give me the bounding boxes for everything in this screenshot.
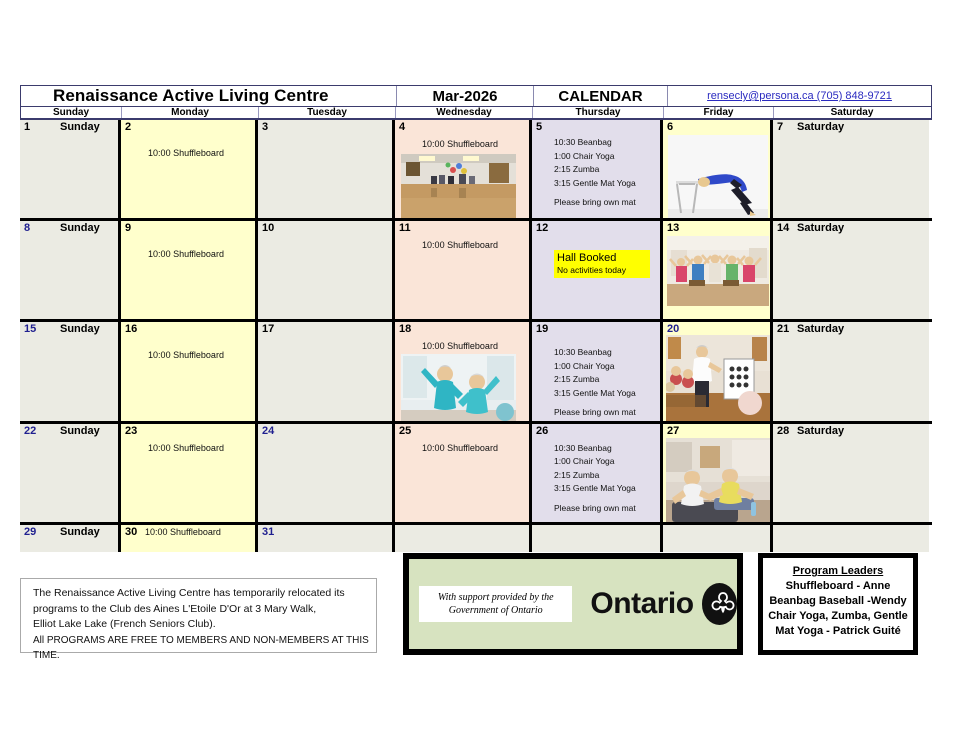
day-number: 2	[125, 121, 131, 134]
hall-booked-badge: Hall Booked No activities today	[554, 250, 650, 278]
day-weekday-label: Sunday	[60, 425, 100, 438]
day-weekday-label: Saturday	[797, 222, 844, 235]
day-cell[interactable]: 21 Saturday	[773, 322, 929, 420]
day-weekday-label: Sunday	[60, 323, 100, 336]
weekday-tuesday: Tuesday	[259, 107, 396, 118]
day-cell[interactable]: 5 10:30 Beanbag 1:00 Chair Yoga 2:15 Zum…	[532, 120, 663, 218]
month-label: Mar-2026	[397, 86, 534, 106]
day-cell[interactable]: 2 10:00 Shuffleboard	[121, 120, 258, 218]
day-cell[interactable]: 11 10:00 Shuffleboard	[395, 221, 532, 319]
day-number: 28	[777, 425, 789, 438]
event-item: 3:15 Gentle Mat Yoga	[554, 387, 636, 401]
day-cell[interactable]: 3	[258, 120, 395, 218]
day-weekday-label: Saturday	[797, 323, 844, 336]
day-cell[interactable]	[532, 525, 663, 552]
week-row: 22 Sunday 23 10:00 Shuffleboard 24 25 10…	[20, 424, 932, 525]
event-text: 10:00 Shuffleboard	[121, 349, 251, 361]
day-cell[interactable]: 30 10:00 Shuffleboard	[121, 525, 258, 552]
event-list: 10:30 Beanbag 1:00 Chair Yoga 2:15 Zumba…	[554, 442, 636, 516]
program-leader-item: Beanbag Baseball -Wendy	[763, 594, 913, 609]
chair-yoga-class-photo	[667, 236, 769, 306]
week-row: 15 Sunday 16 10:00 Shuffleboard 17 18 10…	[20, 322, 932, 423]
calendar-page: Renaissance Active Living Centre Mar-202…	[0, 0, 956, 741]
event-item: 10:30 Beanbag	[554, 136, 636, 150]
ontario-wordmark: Ontario	[590, 587, 693, 621]
ontario-trillium-logo	[702, 583, 737, 625]
day-number: 16	[125, 323, 137, 336]
calendar-title-bar: Renaissance Active Living Centre Mar-202…	[20, 85, 932, 106]
day-cell[interactable]: 23 10:00 Shuffleboard	[121, 424, 258, 522]
event-item: 3:15 Gentle Mat Yoga	[554, 177, 636, 191]
day-cell[interactable]: 15 Sunday	[20, 322, 121, 420]
shuffleboard-hall-photo	[401, 154, 516, 218]
event-item: 1:00 Chair Yoga	[554, 360, 636, 374]
day-number: 11	[399, 222, 411, 235]
week-row: 1 Sunday 2 10:00 Shuffleboard 3 4 10:00 …	[20, 120, 932, 221]
event-text: 10:00 Shuffleboard	[121, 248, 251, 260]
event-item: 10:30 Beanbag	[554, 346, 636, 360]
day-cell[interactable]: 8 Sunday	[20, 221, 121, 319]
day-cell[interactable]: 9 10:00 Shuffleboard	[121, 221, 258, 319]
day-number: 30	[125, 526, 137, 539]
weekday-thursday: Thursday	[533, 107, 664, 118]
support-line-1: With support provided by the	[438, 591, 554, 604]
event-text: 10:00 Shuffleboard	[395, 239, 525, 251]
day-weekday-label: Sunday	[60, 121, 100, 134]
day-cell[interactable]: 18 10:00 Shuffleboard	[395, 322, 532, 420]
day-cell[interactable]	[395, 525, 532, 552]
day-number: 24	[262, 425, 274, 438]
day-cell[interactable]: 25 10:00 Shuffleboard	[395, 424, 532, 522]
notice-line-1: The Renaissance Active Living Centre has…	[33, 586, 376, 602]
day-cell[interactable]	[773, 525, 929, 552]
relocation-notice: The Renaissance Active Living Centre has…	[20, 578, 377, 653]
day-number: 25	[399, 425, 411, 438]
event-note: Please bring own mat	[554, 196, 636, 210]
week-row: 29 Sunday 30 10:00 Shuffleboard 31	[20, 525, 932, 552]
event-note: Please bring own mat	[554, 502, 636, 516]
day-cell[interactable]: 26 10:30 Beanbag 1:00 Chair Yoga 2:15 Zu…	[532, 424, 663, 522]
day-cell[interactable]: 4 10:00 Shuffleboard	[395, 120, 532, 218]
day-number: 29	[24, 526, 36, 539]
event-list: 10:30 Beanbag 1:00 Chair Yoga 2:15 Zumba…	[554, 136, 636, 210]
event-item: 3:15 Gentle Mat Yoga	[554, 482, 636, 496]
day-number: 15	[24, 323, 36, 336]
event-item: 2:15 Zumba	[554, 163, 636, 177]
day-number: 12	[536, 222, 548, 235]
hall-booked-title: Hall Booked	[557, 251, 647, 265]
event-list: 10:30 Beanbag 1:00 Chair Yoga 2:15 Zumba…	[554, 346, 636, 420]
event-item: 2:15 Zumba	[554, 469, 636, 483]
calendar-label: CALENDAR	[534, 86, 668, 106]
day-weekday-label: Sunday	[60, 222, 100, 235]
day-cell[interactable]: 6	[663, 120, 773, 218]
day-cell[interactable]: 13	[663, 221, 773, 319]
event-item: 1:00 Chair Yoga	[554, 455, 636, 469]
event-item: 10:30 Beanbag	[554, 442, 636, 456]
program-leaders-panel: Program Leaders Shuffleboard - Anne Bean…	[758, 553, 918, 655]
day-cell[interactable]: 19 10:30 Beanbag 1:00 Chair Yoga 2:15 Zu…	[532, 322, 663, 420]
week-row: 8 Sunday 9 10:00 Shuffleboard 10 11 10:0…	[20, 221, 932, 322]
day-cell[interactable]: 17	[258, 322, 395, 420]
day-cell[interactable]: 28 Saturday	[773, 424, 929, 522]
day-number: 7	[777, 121, 783, 134]
contact-link[interactable]: rensecly@persona.ca (705) 848-9721	[668, 86, 931, 106]
day-weekday-label: Saturday	[797, 425, 844, 438]
event-text: 10:00 Shuffleboard	[145, 526, 221, 539]
day-weekday-label: Sunday	[60, 526, 100, 539]
day-number: 22	[24, 425, 36, 438]
event-item: 2:15 Zumba	[554, 373, 636, 387]
day-cell[interactable]: 29 Sunday	[20, 525, 121, 552]
day-number: 13	[667, 222, 679, 235]
weekday-saturday: Saturday	[774, 107, 930, 118]
day-cell[interactable]: 14 Saturday	[773, 221, 929, 319]
support-line-2: Government of Ontario	[449, 604, 543, 617]
day-number: 18	[399, 323, 411, 336]
day-number: 17	[262, 323, 274, 336]
day-number: 4	[399, 121, 405, 134]
notice-line-2: programs to the Club des Aines L'Etoile …	[33, 602, 376, 618]
day-cell[interactable]	[663, 525, 773, 552]
chair-forward-fold-yoga-photo	[668, 135, 768, 218]
day-cell[interactable]: 7 Saturday	[773, 120, 929, 218]
day-cell[interactable]: 10	[258, 221, 395, 319]
day-cell[interactable]: 12 Hall Booked No activities today	[532, 221, 663, 319]
calendar-grid: 1 Sunday 2 10:00 Shuffleboard 3 4 10:00 …	[20, 120, 932, 552]
day-number: 10	[262, 222, 274, 235]
weekday-wednesday: Wednesday	[396, 107, 533, 118]
day-number: 9	[125, 222, 131, 235]
notice-line-3: Elliot Lake Lake (French Seniors Club).	[33, 617, 376, 633]
day-cell[interactable]: 1 Sunday	[20, 120, 121, 218]
day-number: 31	[262, 526, 274, 539]
day-weekday-label: Saturday	[797, 121, 844, 134]
day-number: 27	[667, 425, 679, 438]
weekday-header-row: Sunday Monday Tuesday Wednesday Thursday…	[20, 106, 932, 120]
notice-line-4: All PROGRAMS ARE FREE TO MEMBERS AND NON…	[33, 633, 376, 664]
day-number: 21	[777, 323, 789, 336]
program-leaders-title: Program Leaders	[763, 564, 913, 579]
event-text: 10:00 Shuffleboard	[395, 442, 525, 454]
event-text: 10:00 Shuffleboard	[121, 442, 251, 454]
program-leader-item: Chair Yoga, Zumba, Gentle	[763, 609, 913, 624]
day-number: 26	[536, 425, 548, 438]
day-cell[interactable]: 16 10:00 Shuffleboard	[121, 322, 258, 420]
day-cell[interactable]: 31	[258, 525, 395, 552]
event-text: 10:00 Shuffleboard	[395, 340, 525, 352]
weekday-sunday: Sunday	[21, 107, 122, 118]
day-number: 14	[777, 222, 789, 235]
day-number: 6	[667, 121, 673, 134]
hall-booked-subtitle: No activities today	[557, 265, 647, 276]
event-text: 10:00 Shuffleboard	[121, 147, 251, 159]
program-leader-item: Shuffleboard - Anne	[763, 579, 913, 594]
centre-name: Renaissance Active Living Centre	[21, 86, 397, 106]
day-number: 8	[24, 222, 30, 235]
day-cell[interactable]: 24	[258, 424, 395, 522]
support-statement: With support provided by the Government …	[419, 586, 572, 622]
day-number: 5	[536, 121, 542, 134]
mat-yoga-seniors-photo	[666, 438, 771, 522]
event-note: Please bring own mat	[554, 406, 636, 420]
event-text: 10:00 Shuffleboard	[395, 138, 525, 150]
weekday-friday: Friday	[664, 107, 774, 118]
day-number: 1	[24, 121, 30, 134]
day-number: 19	[536, 323, 548, 336]
program-leader-item: Mat Yoga - Patrick Guité	[763, 624, 913, 639]
beanbag-baseball-photo	[666, 335, 771, 420]
ontario-support-panel: With support provided by the Government …	[403, 553, 743, 655]
event-item: 1:00 Chair Yoga	[554, 150, 636, 164]
day-cell[interactable]: 27	[663, 424, 773, 522]
weekday-monday: Monday	[122, 107, 259, 118]
day-cell[interactable]: 22 Sunday	[20, 424, 121, 522]
day-cell[interactable]: 20	[663, 322, 773, 420]
day-number: 3	[262, 121, 268, 134]
seniors-stretching-photo	[401, 354, 516, 420]
day-number: 23	[125, 425, 137, 438]
